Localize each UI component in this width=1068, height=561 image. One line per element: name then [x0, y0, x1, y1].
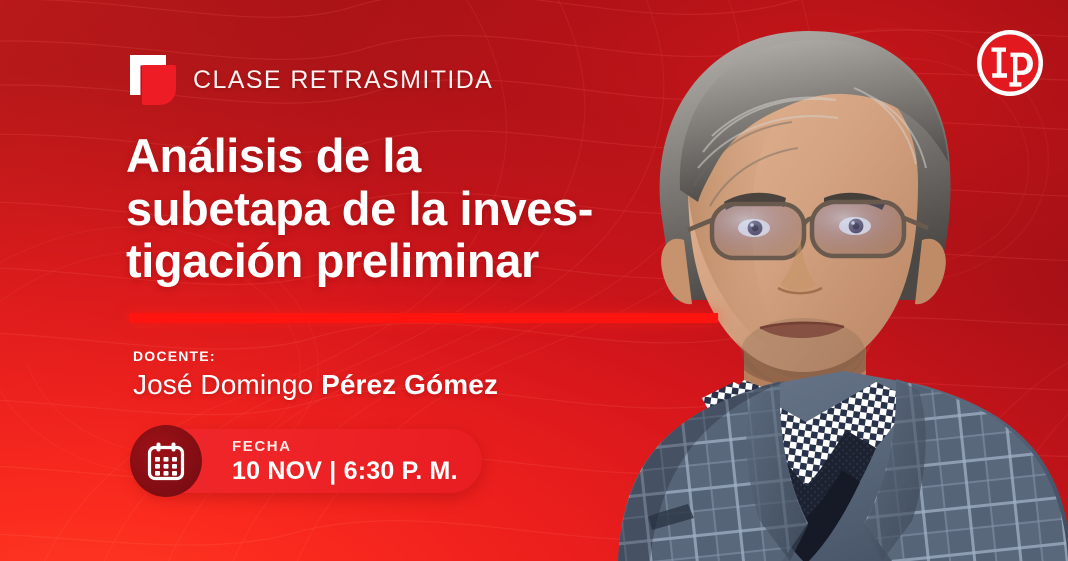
title-line-3: tigación preliminar	[126, 235, 686, 288]
page-title: Análisis de la subetapa de la inves- tig…	[126, 130, 686, 288]
teacher-name: José Domingo Pérez Gómez	[133, 369, 498, 401]
teacher-first-names: José Domingo	[133, 369, 321, 400]
date-text-group: FECHA 10 NOV | 6:30 P. M.	[232, 439, 458, 484]
date-value: 10 NOV | 6:30 P. M.	[232, 459, 458, 484]
calendar-icon	[146, 441, 186, 481]
title-divider	[130, 313, 718, 323]
date-icon-circle	[130, 425, 202, 497]
title-line-1: Análisis de la	[126, 130, 686, 183]
date-badge[interactable]: FECHA 10 NOV | 6:30 P. M.	[134, 429, 482, 493]
date-label: FECHA	[232, 439, 458, 454]
lp-circle-logo-icon[interactable]	[974, 27, 1046, 99]
banner-content: CLASE RETRASMITIDA Análisis de la subeta…	[130, 0, 750, 561]
teacher-block: DOCENTE: José Domingo Pérez Gómez	[133, 348, 498, 401]
teacher-label: DOCENTE:	[133, 348, 498, 364]
promo-banner: CLASE RETRASMITIDA Análisis de la subeta…	[0, 0, 1068, 561]
kicker-label: CLASE RETRASMITIDA	[193, 66, 493, 95]
title-line-2: subetapa de la inves-	[126, 183, 686, 236]
kicker-row: CLASE RETRASMITIDA	[130, 55, 493, 105]
lp-bookmark-mark-icon	[130, 55, 176, 105]
teacher-last-names: Pérez Gómez	[321, 369, 498, 400]
